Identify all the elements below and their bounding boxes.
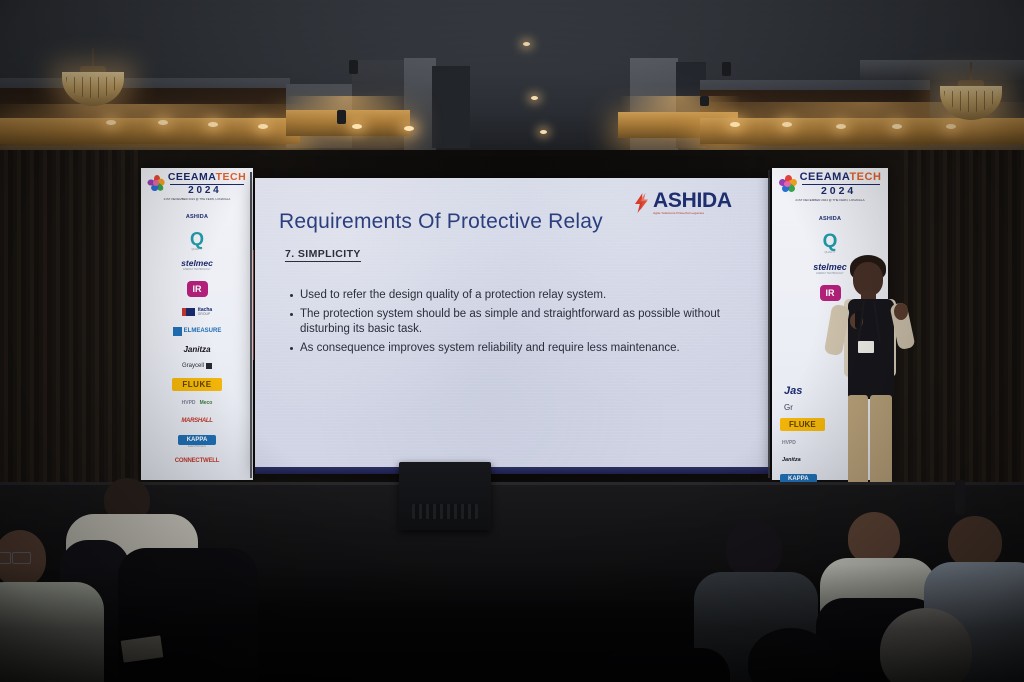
ceiling-spotlight [730, 122, 740, 127]
banner-subtitle: 21ST DECEMBER 2024 @ THE FERN, LONAVALA [141, 197, 253, 201]
banner-brand-right: CEEAMATECH 2024 [772, 168, 888, 197]
screen-left-seam [250, 172, 252, 478]
sponsor-logo: Graycell [141, 358, 253, 374]
sponsor-logo: Janitza [141, 340, 253, 358]
ceiling-speaker [700, 96, 709, 106]
sponsor-logo: ASHIDA [141, 208, 253, 226]
ceiling-spotlight [258, 124, 268, 129]
banner-brand-secondary: TECH [216, 171, 247, 183]
slide-footer-bar [255, 467, 770, 474]
ceiling-spotlight [352, 124, 362, 129]
slide-bullet: The protection system should be as simpl… [288, 307, 720, 336]
banner-brand-secondary: TECH [849, 171, 881, 183]
ashida-logo: ASHIDA Agile Solutions Powerful Legacies [633, 192, 732, 215]
banner-year: 2024 [168, 186, 242, 196]
stage-monitor [399, 462, 491, 530]
sponsor-logo: KAPPA ELECTRICALS [141, 430, 253, 452]
sponsor-logo: IR [141, 276, 253, 302]
sponsor-banner-left: CEEAMATECH 2024 21ST DECEMBER 2024 @ THE… [141, 168, 253, 480]
ashida-tagline: Agile Solutions Powerful Legacies [653, 211, 732, 215]
screen-right-seam [768, 170, 770, 478]
ceiling-spotlight [158, 120, 168, 125]
ceiling-downlight [523, 42, 530, 46]
sponsor-logo: FLUKE [141, 374, 253, 394]
sponsor-logo: ASHIDA [772, 210, 888, 228]
presenter-badge [858, 341, 874, 353]
mic-stand [955, 480, 965, 514]
ceiling-spotlight [946, 124, 956, 129]
sponsor-logo: stelmec ENERGY TECHNOLOGY [141, 254, 253, 276]
sponsor-logo: CONNECTWELL [141, 452, 253, 470]
slide-bullet-list: Used to refer the design quality of a pr… [288, 288, 728, 360]
chandelier-right [940, 62, 1002, 124]
banner-brand-primary: CEEAMA [800, 171, 850, 183]
ceiling-spotlight [208, 122, 218, 127]
conference-photo: CEEAMATECH 2024 21ST DECEMBER 2024 @ THE… [0, 0, 1024, 682]
sponsor-logo: Q QUALITY [772, 228, 888, 258]
banner-brand-primary: CEEAMA [168, 171, 216, 183]
ceiling-spotlight [404, 126, 414, 131]
sponsor-logo: itacha GROUP [141, 302, 253, 322]
ceiling-spotlight [106, 120, 116, 125]
ceiling-spotlight [782, 122, 792, 127]
ceiling-speaker [722, 62, 731, 76]
slide-title: Requirements Of Protective Relay [279, 210, 603, 234]
chandelier-left [62, 48, 124, 110]
banner-year: 2024 [800, 186, 878, 197]
ashida-wordmark: ASHIDA [653, 192, 732, 211]
sponsor-logo: HVPD Meco [141, 394, 253, 412]
ceiling-spotlight [892, 124, 902, 129]
sponsor-logo: ELMEASURE [141, 322, 253, 340]
sponsor-logo: MARSHALL [141, 412, 253, 430]
ceiling-spotlight [836, 124, 846, 129]
curtain-left [0, 150, 140, 500]
ceiling-speaker [337, 110, 346, 124]
banner-brand-left: CEEAMATECH 2024 [141, 168, 253, 196]
foreground-shadow [0, 564, 1024, 682]
slide-bullet: As consequence improves system reliabili… [288, 341, 700, 355]
banner-subtitle: 21ST DECEMBER 2024 @ THE FERN, LONAVALA [772, 198, 888, 202]
ceiling-downlight [540, 130, 547, 134]
presenter-hand-right [894, 303, 908, 320]
sponsor-logo: Q QUALITY [141, 226, 253, 254]
slide-bullet: Used to refer the design quality of a pr… [288, 288, 728, 302]
screen-edge-line [253, 250, 254, 360]
slide-subtitle: 7. SIMPLICITY [285, 248, 361, 262]
lightning-bolt-icon [633, 193, 649, 213]
ceiling [0, 0, 1024, 160]
ceiling-downlight [531, 96, 538, 100]
ceeamatech-pinwheel-icon [779, 175, 797, 193]
projection-screen: Requirements Of Protective Relay 7. SIMP… [255, 178, 770, 474]
ceeamatech-pinwheel-icon [148, 175, 165, 192]
ceiling-speaker [349, 60, 358, 74]
